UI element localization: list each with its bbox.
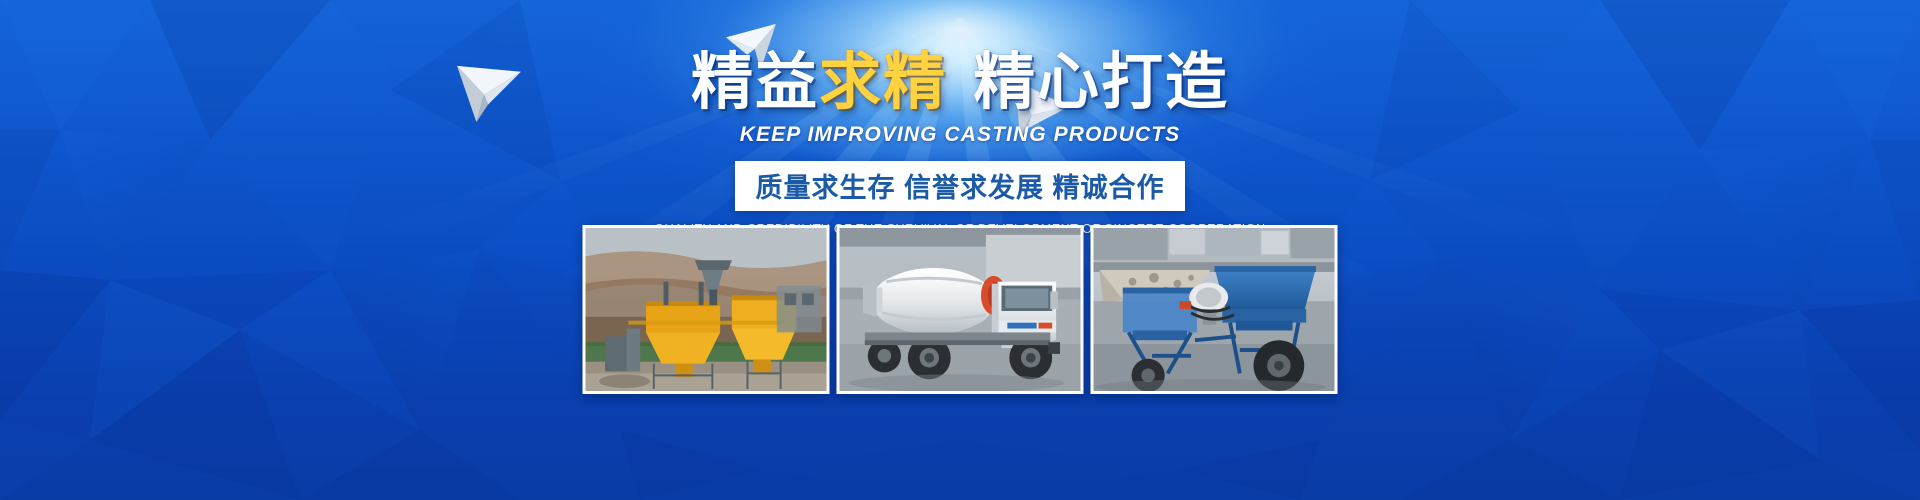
headline: 精益求精精心打造 [0,50,1920,116]
headline-part-2: 精 [883,48,947,117]
photo-concrete-batching-plant[interactable] [583,225,830,394]
photo-blue-mixing-equipment[interactable] [1091,225,1338,394]
headline-part-3: 精心打造 [973,48,1229,117]
slogan-container: 质量求生存 信誉求发展 精诚合作 [0,161,1920,211]
slogan-chinese: 质量求生存 信誉求发展 精诚合作 [735,161,1184,211]
banner-copy: 精益求精精心打造 KEEP IMPROVING CASTING PRODUCTS… [0,50,1920,236]
promo-banner: 精益求精精心打造 KEEP IMPROVING CASTING PRODUCTS… [0,0,1920,500]
subtitle-english: KEEP IMPROVING CASTING PRODUCTS [0,123,1920,147]
headline-highlight: 求 [819,48,883,117]
photo-concrete-mixer-truck[interactable] [837,225,1084,394]
product-photo-strip [583,225,1338,394]
headline-part-1: 精益 [691,48,819,117]
